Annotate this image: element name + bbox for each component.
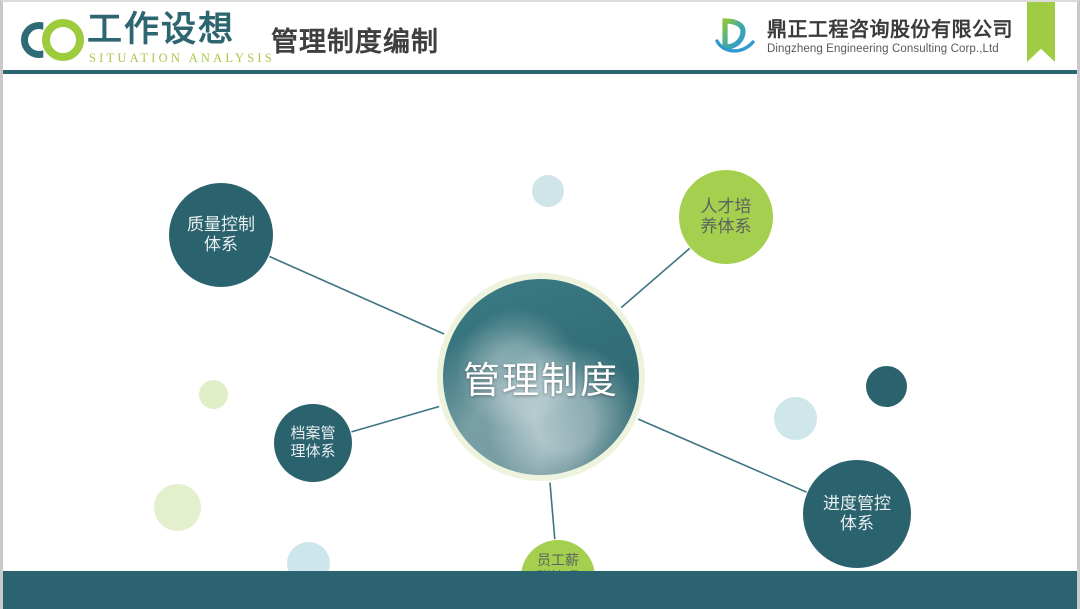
center-node-label: 管理制度	[463, 350, 619, 404]
logo-ring-right-icon	[42, 19, 84, 61]
company-identity: 鼎正工程咨询股份有限公司 Dingzheng Engineering Consu…	[712, 14, 1013, 60]
node-label: 进度管控体系	[823, 494, 891, 534]
node-quality[interactable]: 质量控制体系	[169, 183, 273, 287]
node-talent[interactable]: 人才培养体系	[679, 170, 773, 264]
company-logo-icon	[712, 14, 758, 60]
presentation-slide: 工作设想 SITUATION ANALYSIS 管理制度编制	[0, 0, 1080, 609]
connector-to-schedule	[638, 419, 806, 492]
node-label: 人才培养体系	[701, 197, 752, 237]
node-label: 档案管理体系	[290, 425, 335, 460]
connector-to-archive	[351, 406, 439, 431]
connector-to-quality	[269, 256, 444, 334]
situation-analysis-logo-icon	[20, 16, 96, 62]
green-ribbon-bookmark-icon	[1027, 2, 1055, 62]
brand-title-en: SITUATION ANALYSIS	[89, 51, 275, 66]
company-name-en: Dingzheng Engineering Consulting Corp.,L…	[767, 42, 1013, 57]
diagram-stage: 质量控制体系人才培养体系档案管理体系进度管控体系员工薪酬管理体系 管理制度	[3, 74, 1077, 569]
node-schedule[interactable]: 进度管控体系	[803, 460, 911, 568]
node-label: 质量控制体系	[187, 215, 255, 255]
footer-bar	[3, 571, 1077, 609]
connector-to-compensation	[550, 483, 555, 540]
center-node-management-system[interactable]: 管理制度	[437, 273, 645, 481]
slide-header: 工作设想 SITUATION ANALYSIS 管理制度编制	[3, 2, 1077, 73]
company-name-cn: 鼎正工程咨询股份有限公司	[767, 17, 1013, 41]
page-title: 管理制度编制	[271, 20, 439, 59]
brand-title-cn: 工作设想	[87, 11, 235, 49]
node-archive[interactable]: 档案管理体系	[274, 404, 352, 482]
